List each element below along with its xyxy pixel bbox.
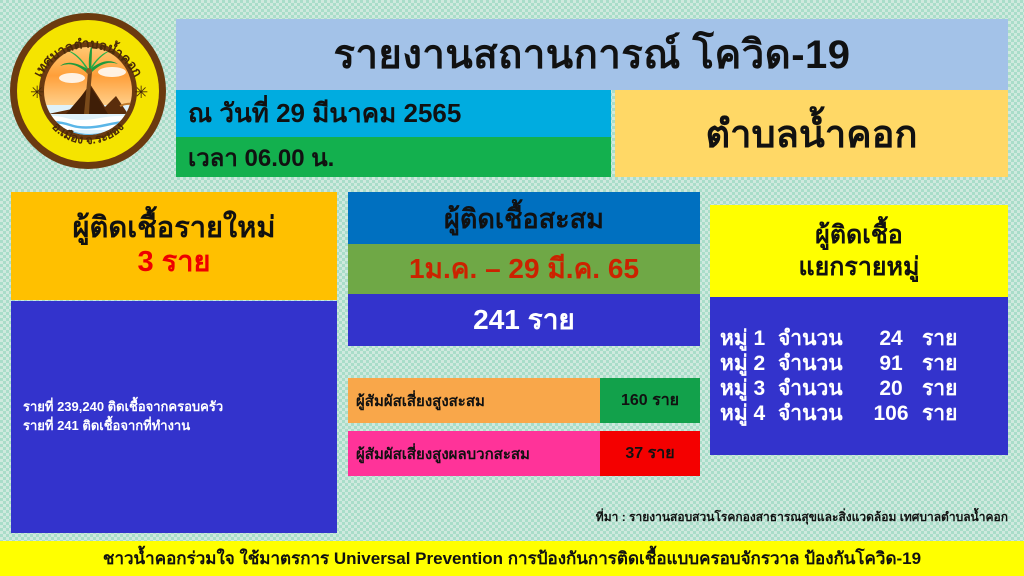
high-risk-positive-row: ผู้สัมผัสเสี่ยงสูงผลบวกสะสม 37 ราย [348,431,700,476]
report-date-band: ณ วันที่ 29 มีนาคม 2565 [176,90,611,137]
village-breakdown-table: หมู่ 1 จำนวน 24 ราย หมู่ 2 จำนวน 91 ราย … [710,297,1008,455]
seal-star-right: ✳ [134,83,148,102]
village-unit: ราย [922,353,957,374]
high-risk-contacts-value: 160 ราย [600,378,700,423]
source-note: ที่มา : รายงานสอบสวนโรคกองสาธารณสุขและสิ… [455,506,1008,528]
new-case-detail-line: รายที่ 239,240 ติดเชื้อจากครอบครัว [11,398,337,417]
page-title-text: รายงานสถานการณ์ โควิด-19 [333,35,850,75]
village-amount-word: จำนวน [778,353,860,374]
village-unit: ราย [922,378,957,399]
high-risk-contacts-row: ผู้สัมผัสเสี่ยงสูงสะสม 160 ราย [348,378,700,423]
subdistrict-name: ตำบลน้ำคอก [706,103,918,164]
table-row: หมู่ 1 จำนวน 24 ราย [710,326,1008,351]
page-title: รายงานสถานการณ์ โควิด-19 [176,19,1008,90]
village-unit: ราย [922,403,957,424]
covid-report-poster: เทศบาลตำบลน้ำคอก อ.เมือง จ.ระยอง ✳ ✳ ราย… [0,0,1024,576]
high-risk-positive-label: ผู้สัมผัสเสี่ยงสูงผลบวกสะสม [348,431,600,476]
village-count: 106 [860,403,922,424]
cumulative-date-range: 1ม.ค. – 29 มี.ค. 65 [348,244,700,294]
subdistrict-band: ตำบลน้ำคอก [615,90,1008,177]
village-count: 24 [860,328,922,349]
table-row: หมู่ 3 จำนวน 20 ราย [710,376,1008,401]
report-time-band: เวลา 06.00 น. [176,137,611,177]
new-case-detail-line: รายที่ 241 ติดเชื้อจากที่ทำงาน [11,417,337,436]
village-name: หมู่ 2 [720,353,778,374]
village-heading-line2: แยกรายหมู่ [799,251,920,284]
cumulative-heading-text: ผู้ติดเชื้อสะสม [444,197,604,240]
village-count: 20 [860,378,922,399]
village-heading-line1: ผู้ติดเชื้อ [815,219,903,252]
village-amount-word: จำนวน [778,378,860,399]
footer-banner: ชาวน้ำคอกร่วมใจ ใช้มาตรการ Universal Pre… [0,541,1024,576]
village-breakdown-heading: ผู้ติดเชื้อ แยกรายหมู่ [710,205,1008,297]
table-row: หมู่ 4 จำนวน 106 ราย [710,401,1008,426]
report-date-text: ณ วันที่ 29 มีนาคม 2565 [176,93,461,134]
high-risk-contacts-label: ผู้สัมผัสเสี่ยงสูงสะสม [348,378,600,423]
new-cases-label: ผู้ติดเชื้อรายใหม่ [73,212,276,245]
high-risk-positive-value: 37 ราย [600,431,700,476]
village-amount-word: จำนวน [778,403,860,424]
village-unit: ราย [922,328,957,349]
village-name: หมู่ 1 [720,328,778,349]
village-count: 91 [860,353,922,374]
new-cases-value: 3 ราย [137,245,210,280]
table-row: หมู่ 2 จำนวน 91 ราย [710,351,1008,376]
village-name: หมู่ 4 [720,403,778,424]
new-cases-card: ผู้ติดเชื้อรายใหม่ 3 ราย [11,192,337,300]
seal-star-left: ✳ [30,83,44,102]
cumulative-total: 241 ราย [348,294,700,346]
village-name: หมู่ 3 [720,378,778,399]
municipality-seal-logo: เทศบาลตำบลน้ำคอก อ.เมือง จ.ระยอง ✳ ✳ [8,10,168,172]
source-note-text: ที่มา : รายงานสอบสวนโรคกองสาธารณสุขและสิ… [596,508,1008,527]
footer-banner-text: ชาวน้ำคอกร่วมใจ ใช้มาตรการ Universal Pre… [103,545,921,572]
cumulative-heading: ผู้ติดเชื้อสะสม [348,192,700,244]
cumulative-date-range-text: 1ม.ค. – 29 มี.ค. 65 [409,247,639,291]
village-amount-word: จำนวน [778,328,860,349]
new-cases-detail-panel: รายที่ 239,240 ติดเชื้อจากครอบครัว รายที… [11,301,337,533]
report-time-text: เวลา 06.00 น. [176,138,334,177]
cumulative-total-text: 241 ราย [473,298,575,342]
